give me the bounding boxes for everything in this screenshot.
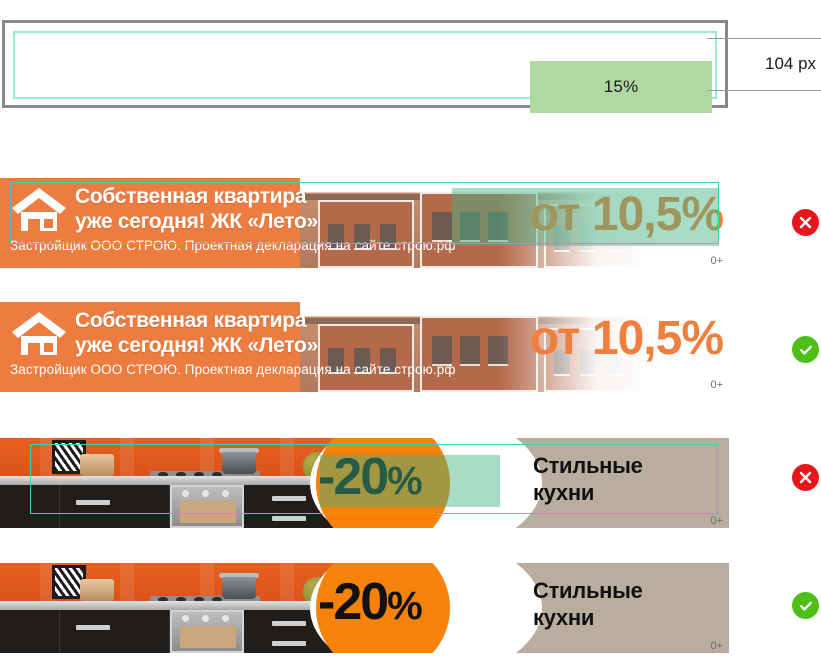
discount-percent-sign: % — [387, 584, 422, 628]
measure-size-label: 104 px — [765, 54, 816, 74]
discount-percent-sign: % — [387, 459, 422, 503]
banner-slogan-line1: Стильные — [533, 452, 643, 479]
discount-value: -20 — [318, 573, 387, 631]
status-badge-approved[interactable] — [792, 336, 819, 363]
banner-discount-text: -20% — [318, 446, 422, 512]
banner-realty-approved[interactable]: Собственная квартира уже сегодня! ЖК «Ле… — [0, 302, 729, 392]
measurement-diagram: 15% — [2, 20, 728, 108]
banner-headline-line2: уже сегодня! ЖК «Лето» — [75, 209, 318, 234]
banner-age-rating: 0+ — [710, 379, 723, 391]
status-badge-rejected[interactable] — [792, 464, 819, 491]
screenshot-root: 15% 104 px — [0, 0, 821, 671]
banner-legal-text: Застройщик ООО СТРОЮ. Проектная декларац… — [10, 362, 456, 377]
diagram-green-area-block: 15% — [530, 61, 712, 113]
banner-slogan: Стильные кухни — [533, 452, 643, 506]
banner-headline: Собственная квартира уже сегодня! ЖК «Ле… — [75, 308, 318, 358]
banner-slogan-line2: кухни — [533, 604, 643, 631]
house-icon — [10, 186, 68, 232]
banner-headline-line1: Собственная квартира — [75, 184, 318, 209]
banner-realty-rejected[interactable]: Собственная квартира уже сегодня! ЖК «Ле… — [0, 178, 729, 268]
banner-legal-text: Застройщик ООО СТРОЮ. Проектная декларац… — [10, 238, 456, 253]
banner-slogan: Стильные кухни — [533, 577, 643, 631]
close-icon — [798, 215, 813, 230]
banner-rate-text: от 10,5% — [530, 184, 723, 246]
house-icon — [10, 310, 68, 356]
banner-slogan-line2: кухни — [533, 479, 643, 506]
banner-age-rating: 0+ — [710, 640, 723, 652]
check-icon — [798, 342, 814, 358]
status-badge-rejected[interactable] — [792, 209, 819, 236]
status-badge-approved[interactable] — [792, 592, 819, 619]
measure-leader-line-top — [707, 38, 821, 39]
banner-rate-text: от 10,5% — [530, 308, 723, 370]
discount-value: -20 — [318, 448, 387, 506]
close-icon — [798, 470, 813, 485]
banner-headline: Собственная квартира уже сегодня! ЖК «Ле… — [75, 184, 318, 234]
measure-leader-line-bottom — [707, 90, 821, 91]
banner-age-rating: 0+ — [710, 515, 723, 527]
banner-headline-line1: Собственная квартира — [75, 308, 318, 333]
banner-age-rating: 0+ — [710, 255, 723, 267]
banner-discount-text: -20% — [318, 571, 422, 637]
banner-headline-line2: уже сегодня! ЖК «Лето» — [75, 333, 318, 358]
diagram-percent-label: 15% — [604, 77, 639, 97]
banner-kitchen-approved[interactable]: -20% Стильные кухни 0+ — [0, 563, 729, 653]
banner-slogan-line1: Стильные — [533, 577, 643, 604]
banner-kitchen-rejected[interactable]: -20% Стильные кухни 0+ — [0, 438, 729, 528]
check-icon — [798, 598, 814, 614]
